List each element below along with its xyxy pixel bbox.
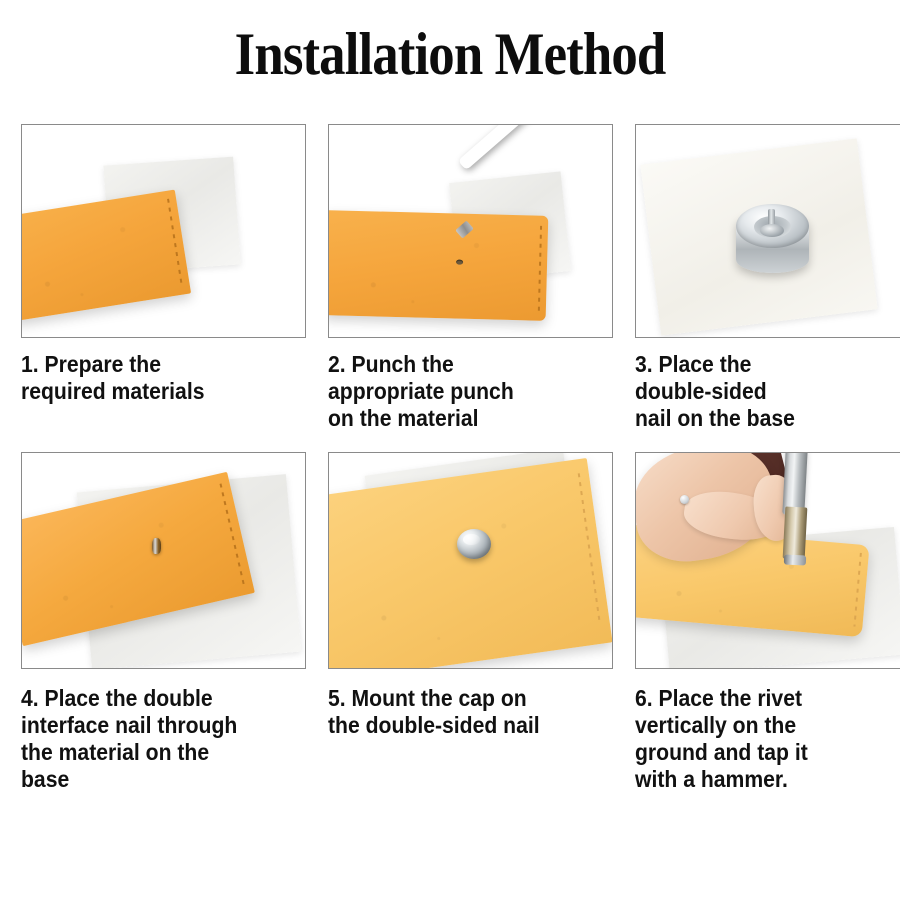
nail-post-through-leather <box>152 538 161 554</box>
orange-leather-strap <box>328 210 548 321</box>
steps-row-2: 4. Place the double interface nail throu… <box>0 452 900 793</box>
step-card-3: 3. Place the double-sided nail on the ba… <box>635 124 900 432</box>
caption-step-4: 4. Place the double interface nail throu… <box>21 685 283 793</box>
nail-post-collar <box>760 224 784 237</box>
step-card-4: 4. Place the double interface nail throu… <box>21 452 306 793</box>
punched-hole <box>456 260 463 265</box>
photo-step-6-tap-with-hammer <box>635 452 900 669</box>
stitch-line <box>578 473 601 622</box>
caption-step-6: 6. Place the rivet vertically on the gro… <box>635 685 897 793</box>
page-title: Installation Method <box>54 0 846 86</box>
photo-step-4-nail-through-material <box>21 452 306 669</box>
caption-step-3: 3. Place the double-sided nail on the ba… <box>635 351 897 432</box>
step-card-2: 2. Punch the appropriate punch on the ma… <box>328 124 613 432</box>
chrome-rivet-cap <box>457 529 491 559</box>
setting-tool-shaft <box>783 506 808 559</box>
orange-leather-strap <box>21 190 191 322</box>
cap-highlight <box>463 534 480 545</box>
steps-grid: 1. Prepare the required materials 2. Pun… <box>0 124 900 793</box>
photo-step-2-punch-material <box>328 124 613 338</box>
caption-step-2: 2. Punch the appropriate punch on the ma… <box>328 351 590 432</box>
stitch-line <box>853 553 861 627</box>
finger-ring <box>680 495 689 504</box>
caption-step-1: 1. Prepare the required materials <box>21 351 283 405</box>
setting-tool-tip <box>784 554 806 565</box>
steps-row-1: 1. Prepare the required materials 2. Pun… <box>0 124 900 432</box>
photo-step-3-nail-on-base <box>635 124 900 338</box>
step-card-1: 1. Prepare the required materials <box>21 124 306 432</box>
yellow-leather-strap <box>328 458 613 669</box>
stitch-line <box>538 226 542 314</box>
black-punch-tool <box>458 124 537 170</box>
photo-step-1-prepare-materials <box>21 124 306 338</box>
photo-step-5-mount-cap <box>328 452 613 669</box>
caption-step-5: 5. Mount the cap on the double-sided nai… <box>328 685 590 739</box>
step-card-5: 5. Mount the cap on the double-sided nai… <box>328 452 613 793</box>
step-card-6: 6. Place the rivet vertically on the gro… <box>635 452 900 793</box>
